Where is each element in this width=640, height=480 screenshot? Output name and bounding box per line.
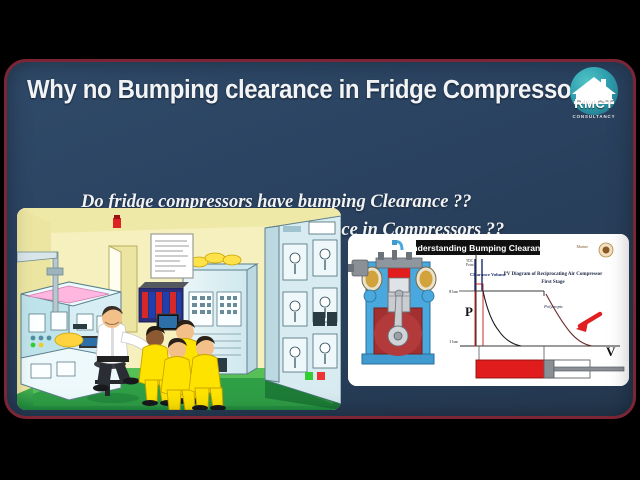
- p-axis-label: P: [465, 304, 473, 319]
- tick-1bar: 1 bar: [449, 339, 458, 344]
- content-panel: Why no Bumping clearance in Fridge Compr…: [4, 59, 636, 419]
- letterbox-top: [0, 0, 640, 59]
- pv-title-line-2: First Stage: [541, 280, 565, 285]
- page-title: Why no Bumping clearance in Fridge Compr…: [27, 76, 553, 105]
- tick-8bar: 8 bar: [449, 289, 458, 294]
- header: Why no Bumping clearance in Fridge Compr…: [7, 76, 636, 122]
- svg-text:Marine: Marine: [576, 244, 588, 249]
- video-slide: Why no Bumping clearance in Fridge Compr…: [0, 0, 640, 480]
- polytropic-label: Polytropic: [543, 304, 563, 309]
- bumping-clearance-diagram: Understanding Bumping Clearance Marine: [348, 234, 629, 386]
- v-axis-label: V: [606, 344, 616, 359]
- svg-text:Point: Point: [466, 263, 474, 267]
- logo-tagline: CONSULTANCY: [568, 114, 620, 119]
- control-room-illustration: [17, 208, 341, 410]
- house-icon: [568, 67, 620, 119]
- pv-title-line-1: PV Diagram of Reciprocating Air Compress…: [504, 272, 603, 277]
- letterbox-bottom: [0, 422, 640, 480]
- logo-name: RMCT: [568, 96, 620, 111]
- rmct-logo: RMCT CONSULTANCY: [568, 67, 620, 119]
- diagram-banner-text: Understanding Bumping Clearance: [406, 243, 550, 253]
